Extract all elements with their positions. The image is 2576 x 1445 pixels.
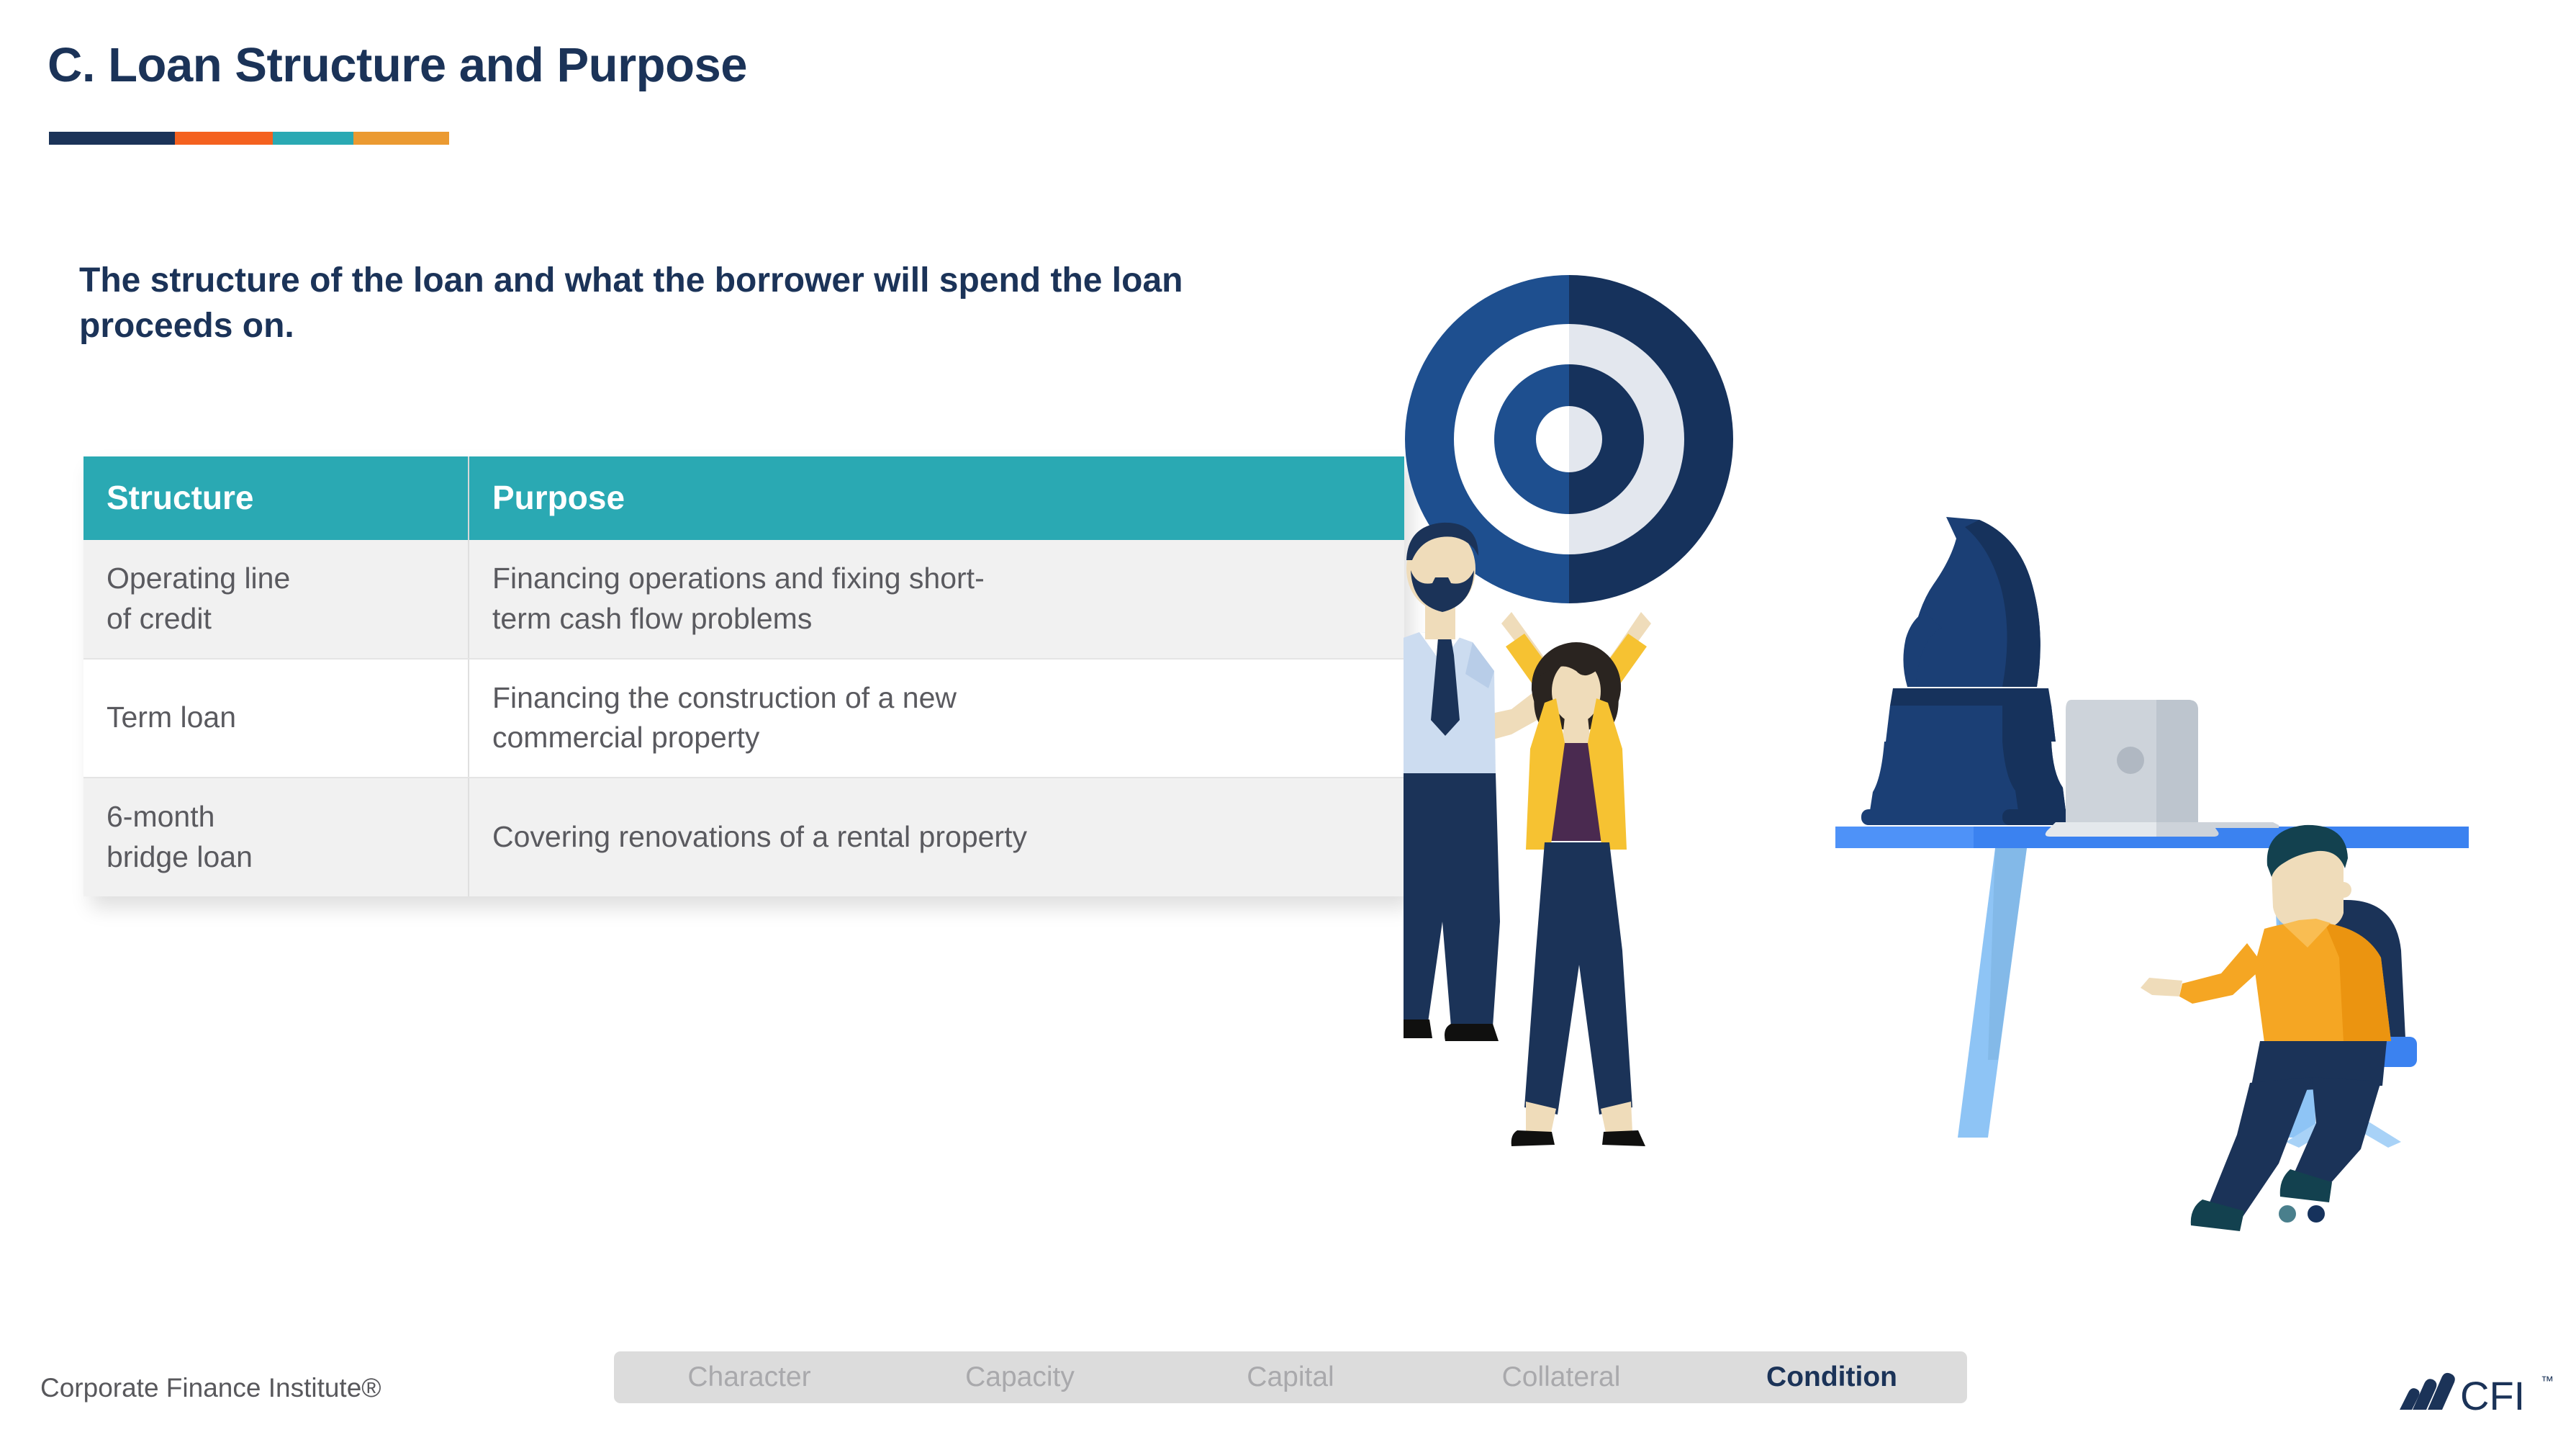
table-header-row: Structure Purpose xyxy=(83,456,1404,540)
loan-structure-table: Structure Purpose Operating line of cred… xyxy=(83,456,1404,896)
column-header-purpose: Purpose xyxy=(469,456,1404,540)
cell-purpose-line1: Financing operations and fixing short- xyxy=(492,559,1381,599)
accent-segment-teal xyxy=(273,132,353,145)
nav-item-collateral[interactable]: Collateral xyxy=(1426,1361,1696,1393)
cfi-logo: CFI ™ xyxy=(2397,1367,2562,1417)
cell-structure-line1: 6-month xyxy=(107,797,445,837)
accent-segment-orange xyxy=(175,132,273,145)
slide-subtitle: The structure of the loan and what the b… xyxy=(79,258,1317,349)
cell-structure-line2: of credit xyxy=(107,599,445,639)
cell-purpose-line1: Covering renovations of a rental propert… xyxy=(492,817,1381,857)
table-row: Term loan Financing the construction of … xyxy=(83,659,1404,778)
nav-item-condition[interactable]: Condition xyxy=(1696,1361,1967,1393)
cfi-logo-text: CFI xyxy=(2460,1373,2525,1417)
table-row: 6-month bridge loan Covering renovations… xyxy=(83,778,1404,896)
cell-structure-line1: Operating line xyxy=(107,559,445,599)
column-header-structure: Structure xyxy=(83,456,469,540)
accent-bar xyxy=(49,132,449,145)
nav-item-capital[interactable]: Capital xyxy=(1155,1361,1426,1393)
accent-segment-amber xyxy=(353,132,449,145)
cfi-logo-bars-icon xyxy=(2400,1373,2455,1410)
copyright-text: Corporate Finance Institute® xyxy=(40,1373,381,1403)
seated-man-with-laptop-figure xyxy=(2141,825,2417,1231)
page-title: C. Loan Structure and Purpose xyxy=(48,37,747,93)
cell-purpose-line2: commercial property xyxy=(492,718,1381,758)
cell-purpose: Covering renovations of a rental propert… xyxy=(469,778,1404,896)
five-cs-nav-bar: Character Capacity Capital Collateral Co… xyxy=(614,1351,1967,1403)
cell-structure: 6-month bridge loan xyxy=(83,778,469,896)
cell-purpose: Financing the construction of a new comm… xyxy=(469,659,1404,778)
business-team-target-illustration xyxy=(1404,274,2483,1282)
cell-structure-line2: bridge loan xyxy=(107,837,445,878)
laptop-icon xyxy=(2046,700,2279,837)
cell-structure-line1: Term loan xyxy=(107,698,445,738)
cell-structure: Term loan xyxy=(83,659,469,778)
accent-segment-navy xyxy=(49,132,175,145)
woman-lifting-target-figure xyxy=(1501,612,1651,1146)
cell-purpose-line2: term cash flow problems xyxy=(492,599,1381,639)
cell-purpose: Financing operations and fixing short- t… xyxy=(469,540,1404,659)
cell-structure: Operating line of credit xyxy=(83,540,469,659)
table-row: Operating line of credit Financing opera… xyxy=(83,540,1404,659)
cfi-logo-tm: ™ xyxy=(2541,1374,2554,1388)
chess-knight-piece-icon xyxy=(1861,517,2074,825)
nav-item-character[interactable]: Character xyxy=(614,1361,885,1393)
nav-item-capacity[interactable]: Capacity xyxy=(885,1361,1155,1393)
cell-purpose-line1: Financing the construction of a new xyxy=(492,678,1381,719)
